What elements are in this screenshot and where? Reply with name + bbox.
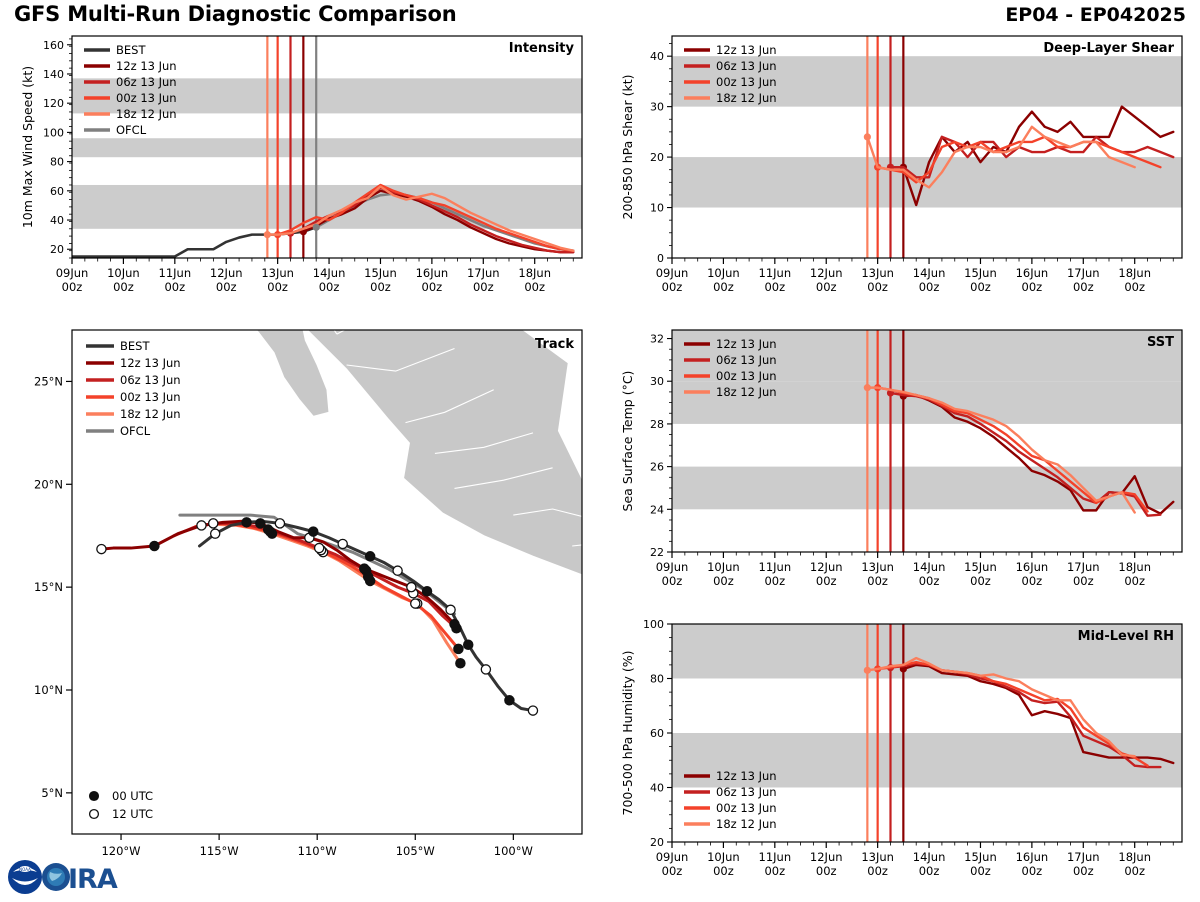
page-title: GFS Multi-Run Diagnostic Comparison [14, 2, 456, 26]
x-tick-label: 09Jun [656, 266, 689, 280]
x-tick-sublabel: 00z [662, 864, 683, 878]
track-marker-12utc [197, 521, 206, 530]
x-tick-sublabel: 00z [1073, 864, 1094, 878]
legend-label: BEST [116, 43, 146, 57]
x-tick-label: 16Jun [1016, 560, 1049, 574]
x-tick-sublabel: 00z [919, 574, 940, 588]
track-marker-00utc [360, 564, 369, 573]
track-marker-00utc [264, 525, 273, 534]
track-marker-12utc [338, 539, 347, 548]
y-tick-label: 30 [650, 101, 664, 114]
y-tick-label: 80 [650, 673, 664, 686]
svg-text:NOAA: NOAA [19, 867, 31, 872]
x-tick-sublabel: 00z [267, 280, 288, 294]
x-tick-label: 12Jun [810, 266, 843, 280]
y-tick-label: 120 [43, 97, 64, 110]
y-tick-label: 0 [657, 252, 664, 265]
track-marker-00utc [456, 659, 465, 668]
track-marker-12utc [393, 566, 402, 575]
track-marker-12utc [481, 665, 490, 674]
x-tick-sublabel: 00z [1073, 280, 1094, 294]
panel-track: 5°N10°N15°N20°N25°N120°W115°W110°W105°W1… [0, 320, 600, 900]
x-tick-sublabel: 00z [816, 280, 837, 294]
legend-label: 00z 13 Jun [120, 390, 181, 404]
x-tick-sublabel: 00z [970, 280, 991, 294]
lat-tick-label: 15°N [34, 580, 63, 594]
y-axis-label: 700-500 hPa Humidity (%) [620, 650, 635, 815]
y-axis-label: 200-850 hPa Shear (kt) [620, 75, 635, 220]
x-tick-sublabel: 00z [62, 280, 83, 294]
figure-root: GFS Multi-Run Diagnostic Comparison EP04… [0, 0, 1200, 900]
x-tick-label: 11Jun [759, 560, 792, 574]
x-tick-label: 14Jun [913, 850, 946, 864]
y-tick-label: 20 [650, 836, 664, 849]
track-marker-12utc [407, 583, 416, 592]
y-tick-label: 26 [650, 461, 664, 474]
ofcl-start-dot [313, 224, 320, 231]
x-tick-sublabel: 00z [662, 280, 683, 294]
x-tick-sublabel: 00z [662, 574, 683, 588]
legend-label: 18z 12 Jun [716, 385, 777, 399]
series-start-dot [864, 667, 871, 674]
legend-label: OFCL [116, 123, 147, 137]
x-tick-sublabel: 00z [473, 280, 494, 294]
plot-track: 5°N10°N15°N20°N25°N120°W115°W110°W105°W1… [0, 320, 600, 900]
x-tick-sublabel: 00z [1022, 280, 1043, 294]
cira-noaa-logo: NOAA IRA [6, 856, 132, 898]
legend-label: BEST [120, 339, 150, 353]
marker-legend-label: 00 UTC [112, 789, 153, 803]
y-tick-label: 32 [650, 333, 664, 346]
x-tick-sublabel: 00z [1022, 574, 1043, 588]
x-tick-sublabel: 00z [713, 574, 734, 588]
lon-tick-label: 105°W [396, 844, 435, 858]
x-tick-label: 09Jun [656, 560, 689, 574]
track-marker-00utc [454, 644, 463, 653]
shaded-band-0 [672, 157, 1182, 207]
panel-sst: 22242628303209Jun00z10Jun00z11Jun00z12Ju… [600, 320, 1200, 614]
x-tick-label: 17Jun [1067, 560, 1100, 574]
plot-rh: 2040608010009Jun00z10Jun00z11Jun00z12Jun… [600, 614, 1200, 900]
legend-label: 12z 13 Jun [120, 356, 181, 370]
x-tick-sublabel: 00z [370, 280, 391, 294]
shaded-band-0 [672, 467, 1182, 510]
x-tick-sublabel: 00z [1124, 574, 1145, 588]
plot-shear: 01020304009Jun00z10Jun00z11Jun00z12Jun00… [600, 26, 1200, 320]
x-tick-sublabel: 00z [764, 280, 785, 294]
legend-label: 18z 12 Jun [716, 817, 777, 831]
panel-deep-layer-shear: 01020304009Jun00z10Jun00z11Jun00z12Jun00… [600, 26, 1200, 320]
x-tick-label: 10Jun [107, 266, 140, 280]
legend-label: 00z 13 Jun [116, 91, 177, 105]
x-tick-label: 18Jun [1118, 560, 1151, 574]
x-tick-label: 09Jun [656, 850, 689, 864]
x-tick-label: 11Jun [159, 266, 192, 280]
x-tick-label: 13Jun [261, 266, 294, 280]
x-tick-label: 17Jun [1067, 266, 1100, 280]
x-tick-label: 17Jun [1067, 850, 1100, 864]
x-tick-sublabel: 00z [764, 574, 785, 588]
legend-label: 00z 13 Jun [716, 75, 777, 89]
legend-label: 18z 12 Jun [120, 407, 181, 421]
legend-label: OFCL [120, 424, 151, 438]
legend-label: 00z 13 Jun [716, 369, 777, 383]
x-tick-sublabel: 00z [919, 864, 940, 878]
y-tick-label: 60 [50, 185, 64, 198]
y-tick-label: 40 [50, 214, 64, 227]
track-marker-12utc [528, 706, 537, 715]
x-tick-label: 16Jun [1016, 850, 1049, 864]
x-tick-sublabel: 00z [422, 280, 443, 294]
y-tick-label: 60 [650, 727, 664, 740]
x-tick-label: 18Jun [1118, 850, 1151, 864]
x-tick-label: 11Jun [759, 850, 792, 864]
x-tick-sublabel: 00z [816, 574, 837, 588]
x-tick-sublabel: 00z [867, 574, 888, 588]
plot-intensity: 2040608010012014016009Jun00z10Jun00z11Ju… [0, 26, 600, 320]
cira-wordmark: IRA [42, 863, 118, 895]
panel-mid-level-rh: 2040608010009Jun00z10Jun00z11Jun00z12Jun… [600, 614, 1200, 900]
x-tick-label: 15Jun [964, 850, 997, 864]
x-tick-label: 10Jun [707, 560, 740, 574]
x-tick-label: 14Jun [913, 560, 946, 574]
series-start-dot [264, 231, 271, 238]
x-tick-sublabel: 00z [1124, 864, 1145, 878]
x-tick-label: 12Jun [810, 850, 843, 864]
lat-tick-label: 20°N [34, 477, 63, 491]
lon-tick-label: 110°W [298, 844, 337, 858]
x-tick-sublabel: 00z [1124, 280, 1145, 294]
marker-legend-00utc-icon [90, 792, 99, 801]
x-tick-sublabel: 00z [319, 280, 340, 294]
x-tick-sublabel: 00z [970, 574, 991, 588]
shaded-band-1 [72, 138, 582, 157]
y-axis-label: 10m Max Wind Speed (kt) [20, 66, 35, 228]
legend-label: 00z 13 Jun [716, 801, 777, 815]
track-marker-00utc [464, 640, 473, 649]
lat-tick-label: 5°N [41, 786, 63, 800]
panel-title: SST [1147, 335, 1174, 350]
panel-title: Deep-Layer Shear [1043, 41, 1174, 56]
track-marker-12utc [411, 599, 420, 608]
x-tick-label: 12Jun [210, 266, 243, 280]
x-tick-sublabel: 00z [113, 280, 134, 294]
y-tick-label: 24 [650, 503, 664, 516]
y-tick-label: 20 [650, 151, 664, 164]
lon-tick-label: 115°W [200, 844, 239, 858]
track-marker-00utc [422, 587, 431, 596]
track-marker-00utc [256, 519, 265, 528]
x-tick-label: 16Jun [1016, 266, 1049, 280]
x-tick-label: 15Jun [964, 560, 997, 574]
legend-label: 06z 13 Jun [716, 353, 777, 367]
track-marker-00utc [450, 620, 459, 629]
x-tick-sublabel: 00z [816, 864, 837, 878]
y-tick-label: 140 [43, 68, 64, 81]
lat-tick-label: 10°N [34, 683, 63, 697]
panel-title: Mid-Level RH [1078, 629, 1174, 644]
y-tick-label: 20 [50, 243, 64, 256]
x-tick-label: 13Jun [861, 850, 894, 864]
x-tick-label: 10Jun [707, 850, 740, 864]
marker-legend-label: 12 UTC [112, 807, 153, 821]
y-tick-label: 30 [650, 375, 664, 388]
marker-legend-12utc-icon [90, 810, 99, 819]
x-tick-label: 10Jun [707, 266, 740, 280]
x-tick-sublabel: 00z [524, 280, 545, 294]
track-marker-00utc [309, 527, 318, 536]
track-marker-12utc [315, 543, 324, 552]
lat-tick-label: 25°N [34, 374, 63, 388]
lon-tick-label: 100°W [494, 844, 533, 858]
x-tick-sublabel: 00z [164, 280, 185, 294]
x-tick-label: 11Jun [759, 266, 792, 280]
x-tick-sublabel: 00z [1073, 574, 1094, 588]
y-tick-label: 160 [43, 39, 64, 52]
x-tick-label: 15Jun [964, 266, 997, 280]
legend-label: 12z 13 Jun [116, 59, 177, 73]
x-tick-label: 13Jun [861, 266, 894, 280]
legend-label: 06z 13 Jun [116, 75, 177, 89]
noaa-seagull-icon: NOAA [8, 860, 42, 894]
legend-label: 06z 13 Jun [120, 373, 181, 387]
track-marker-12utc [446, 605, 455, 614]
legend-label: 12z 13 Jun [716, 337, 777, 351]
x-tick-sublabel: 00z [867, 280, 888, 294]
x-tick-sublabel: 00z [1022, 864, 1043, 878]
x-tick-sublabel: 00z [216, 280, 237, 294]
y-tick-label: 22 [650, 546, 664, 559]
legend-label: 06z 13 Jun [716, 59, 777, 73]
x-tick-sublabel: 00z [867, 864, 888, 878]
x-tick-label: 15Jun [364, 266, 397, 280]
legend-label: 06z 13 Jun [716, 785, 777, 799]
panel-title: Intensity [509, 41, 575, 56]
y-tick-label: 10 [650, 202, 664, 215]
series-start-dot [864, 133, 871, 140]
track-marker-00utc [366, 552, 375, 561]
x-tick-sublabel: 00z [970, 864, 991, 878]
legend-label: 18z 12 Jun [116, 107, 177, 121]
x-tick-sublabel: 00z [713, 280, 734, 294]
y-tick-label: 100 [43, 126, 64, 139]
legend-label: 12z 13 Jun [716, 769, 777, 783]
x-tick-label: 12Jun [810, 560, 843, 574]
x-tick-label: 09Jun [56, 266, 89, 280]
track-marker-12utc [97, 544, 106, 553]
legend-label: 18z 12 Jun [716, 91, 777, 105]
x-tick-label: 17Jun [467, 266, 500, 280]
y-tick-label: 100 [643, 618, 664, 631]
x-tick-label: 14Jun [313, 266, 346, 280]
track-marker-00utc [505, 696, 514, 705]
track-marker-00utc [242, 518, 251, 527]
y-tick-label: 28 [650, 418, 664, 431]
panel-title: Track [535, 337, 574, 352]
x-tick-sublabel: 00z [919, 280, 940, 294]
x-tick-sublabel: 00z [764, 864, 785, 878]
storm-id-title: EP04 - EP042025 [1005, 4, 1186, 26]
y-axis-label: Sea Surface Temp (°C) [620, 371, 635, 512]
plot-sst: 22242628303209Jun00z10Jun00z11Jun00z12Ju… [600, 320, 1200, 614]
x-tick-label: 18Jun [518, 266, 551, 280]
series-start-dot [864, 384, 871, 391]
x-tick-label: 18Jun [1118, 266, 1151, 280]
legend-label: 12z 13 Jun [716, 43, 777, 57]
track-marker-12utc [211, 529, 220, 538]
track-marker-12utc [209, 519, 218, 528]
x-tick-label: 16Jun [416, 266, 449, 280]
x-tick-label: 14Jun [913, 266, 946, 280]
track-marker-12utc [275, 519, 284, 528]
svg-text:IRA: IRA [68, 864, 118, 895]
x-tick-sublabel: 00z [713, 864, 734, 878]
panel-intensity: 2040608010012014016009Jun00z10Jun00z11Ju… [0, 26, 600, 320]
y-tick-label: 40 [650, 50, 664, 63]
y-tick-label: 80 [50, 156, 64, 169]
y-tick-label: 40 [650, 782, 664, 795]
track-marker-00utc [150, 541, 159, 550]
x-tick-label: 13Jun [861, 560, 894, 574]
